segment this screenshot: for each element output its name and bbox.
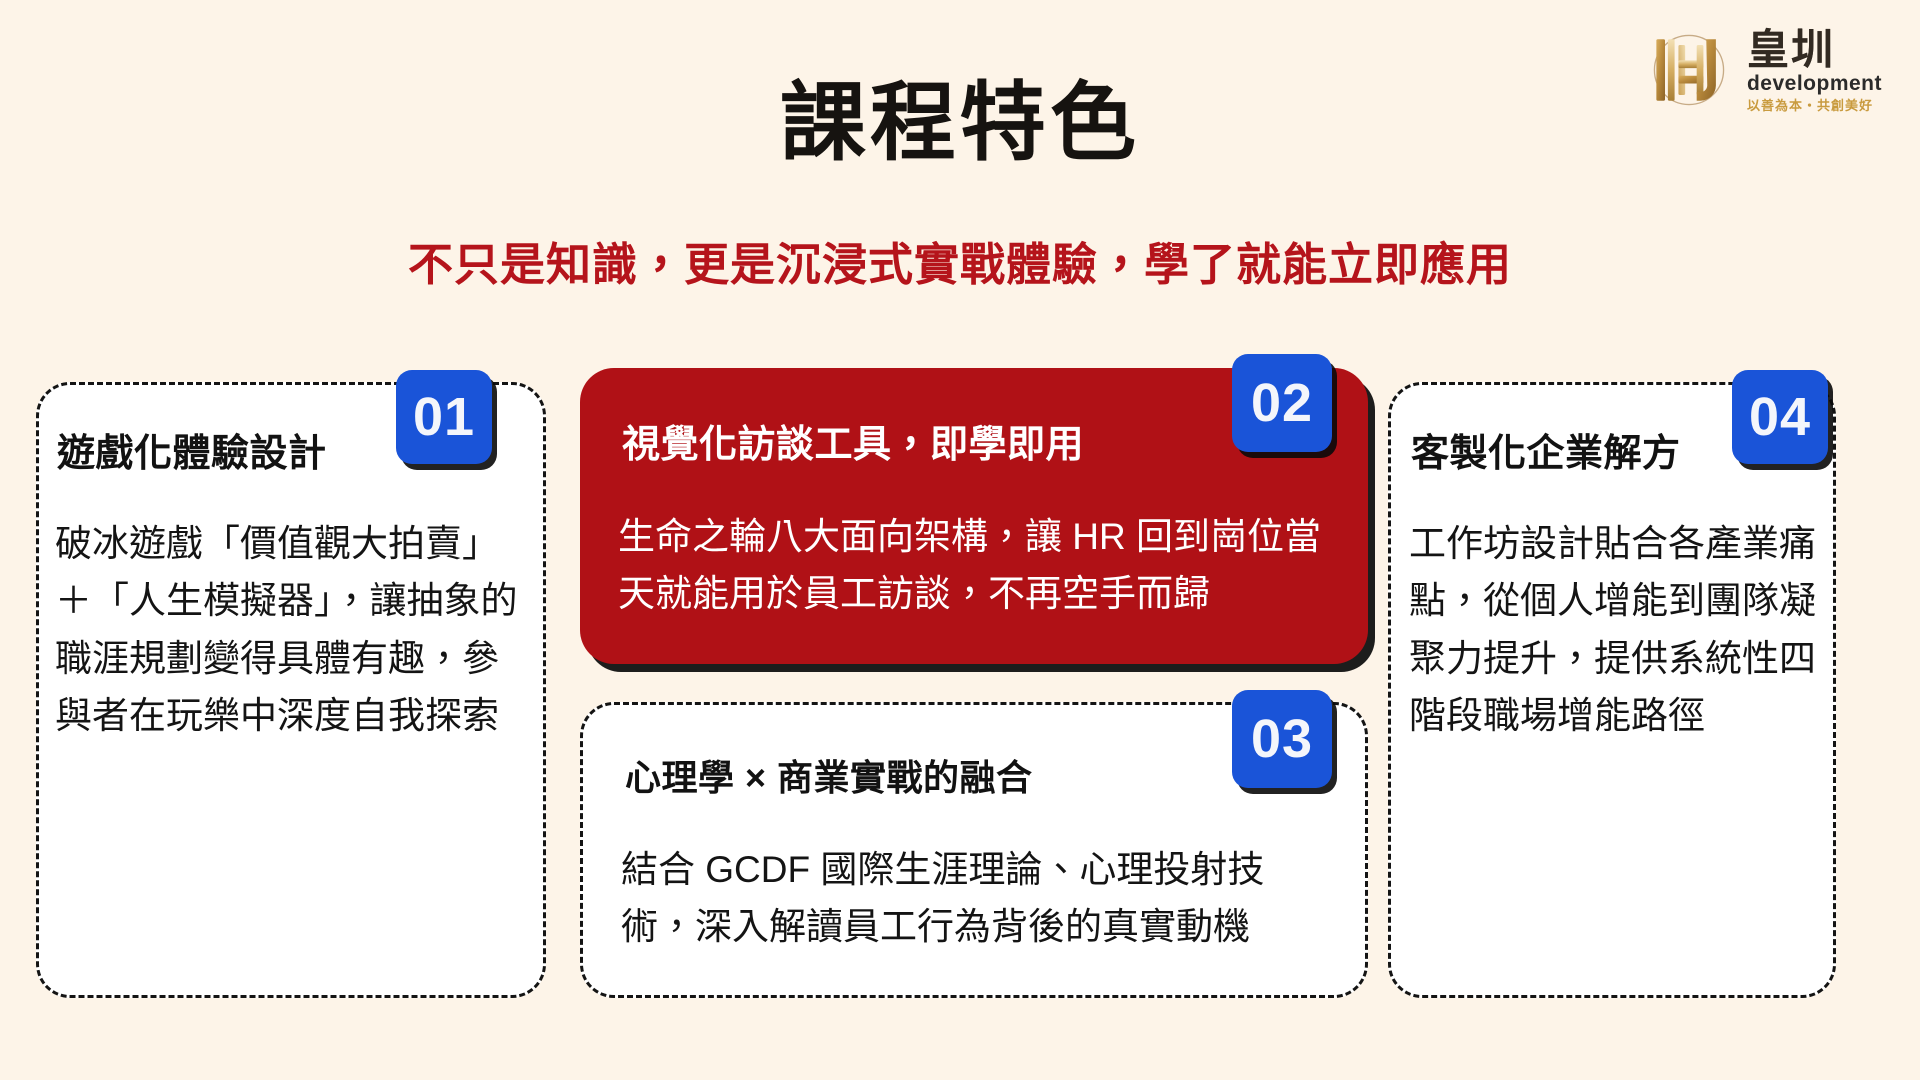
feature-card-01-body: 破冰遊戲「價值觀大拍賣」＋「人生模擬器」，讓抽象的職涯規劃變得具體有趣，參與者在… — [55, 515, 529, 744]
feature-card-02-title: 視覺化訪談工具，即學即用 — [622, 424, 1084, 468]
feature-card-03-title: 心理學 × 商業實戰的融合 — [625, 757, 1033, 798]
feature-card-03-body: 結合 GCDF 國際生涯理論、心理投射技術，深入解讀員工行為背後的真實動機 — [621, 841, 1333, 956]
feature-card-04-body: 工作坊設計貼合各產業痛點，從個人增能到團隊凝聚力提升，提供系統性四階段職場增能路… — [1409, 515, 1821, 744]
feature-card-03-number-badge: 03 — [1232, 690, 1332, 788]
feature-card-04-title: 客製化企業解方 — [1411, 433, 1681, 477]
page-title: 課程特色 — [0, 52, 1920, 177]
feature-card-01-title: 遊戲化體驗設計 — [57, 433, 327, 477]
feature-card-02-number-badge: 02 — [1232, 354, 1332, 452]
feature-card-04-number-badge: 04 — [1732, 370, 1828, 464]
feature-card-01-number-badge: 01 — [396, 370, 492, 464]
feature-card-04: 客製化企業解方 工作坊設計貼合各產業痛點，從個人增能到團隊凝聚力提升，提供系統性… — [1388, 382, 1836, 998]
page-subtitle: 不只是知識，更是沉浸式實戰體驗，學了就能立即應用 — [0, 228, 1920, 293]
feature-card-02-body: 生命之輪八大面向架構，讓 HR 回到崗位當天就能用於員工訪談，不再空手而歸 — [618, 508, 1328, 623]
feature-card-01: 遊戲化體驗設計 破冰遊戲「價值觀大拍賣」＋「人生模擬器」，讓抽象的職涯規劃變得具… — [36, 382, 546, 998]
